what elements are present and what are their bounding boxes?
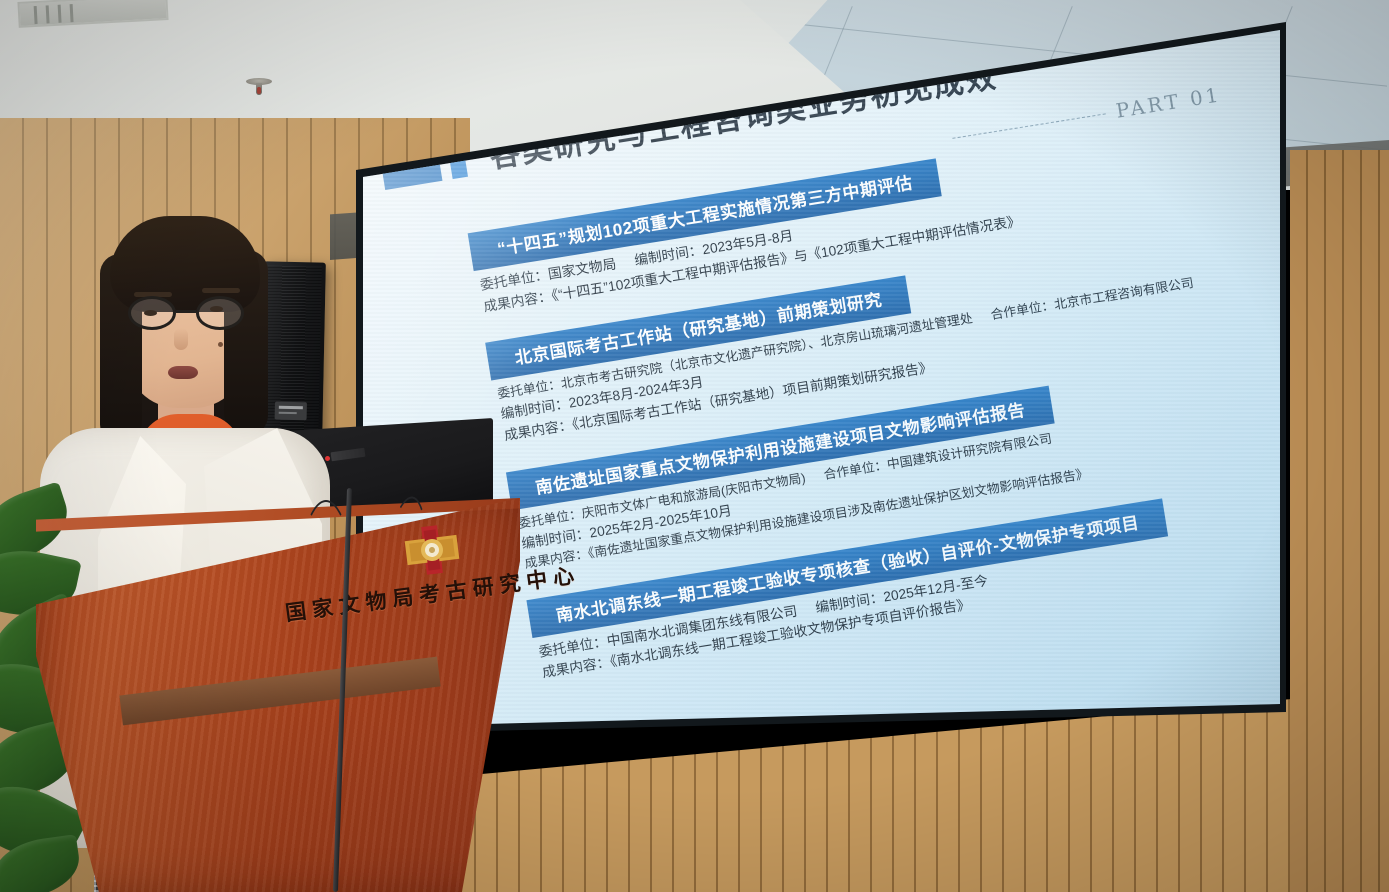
presentation-photo: 各类研究与工程咨询类业务初见成效 PART 01 “十四五”规划102项重大工程… xyxy=(0,0,1389,892)
project-block-list: “十四五”规划102项重大工程实施情况第三方中期评估 委托单位：国家文物局编制时… xyxy=(468,112,1290,709)
laptop-indicator-dot xyxy=(325,456,330,461)
glasses-bridge xyxy=(176,310,196,313)
facial-mole xyxy=(218,342,223,347)
eye-left xyxy=(144,310,157,316)
power-cable-loop xyxy=(296,500,356,700)
lens-right xyxy=(196,296,244,330)
eyebrow-right xyxy=(202,288,240,293)
sprinkler-head-left xyxy=(246,78,272,98)
eye-right xyxy=(210,306,223,312)
laptop-logo xyxy=(331,448,366,462)
wood-slat-wall-right xyxy=(1290,150,1389,892)
mouth xyxy=(168,366,198,379)
nose xyxy=(174,328,188,350)
